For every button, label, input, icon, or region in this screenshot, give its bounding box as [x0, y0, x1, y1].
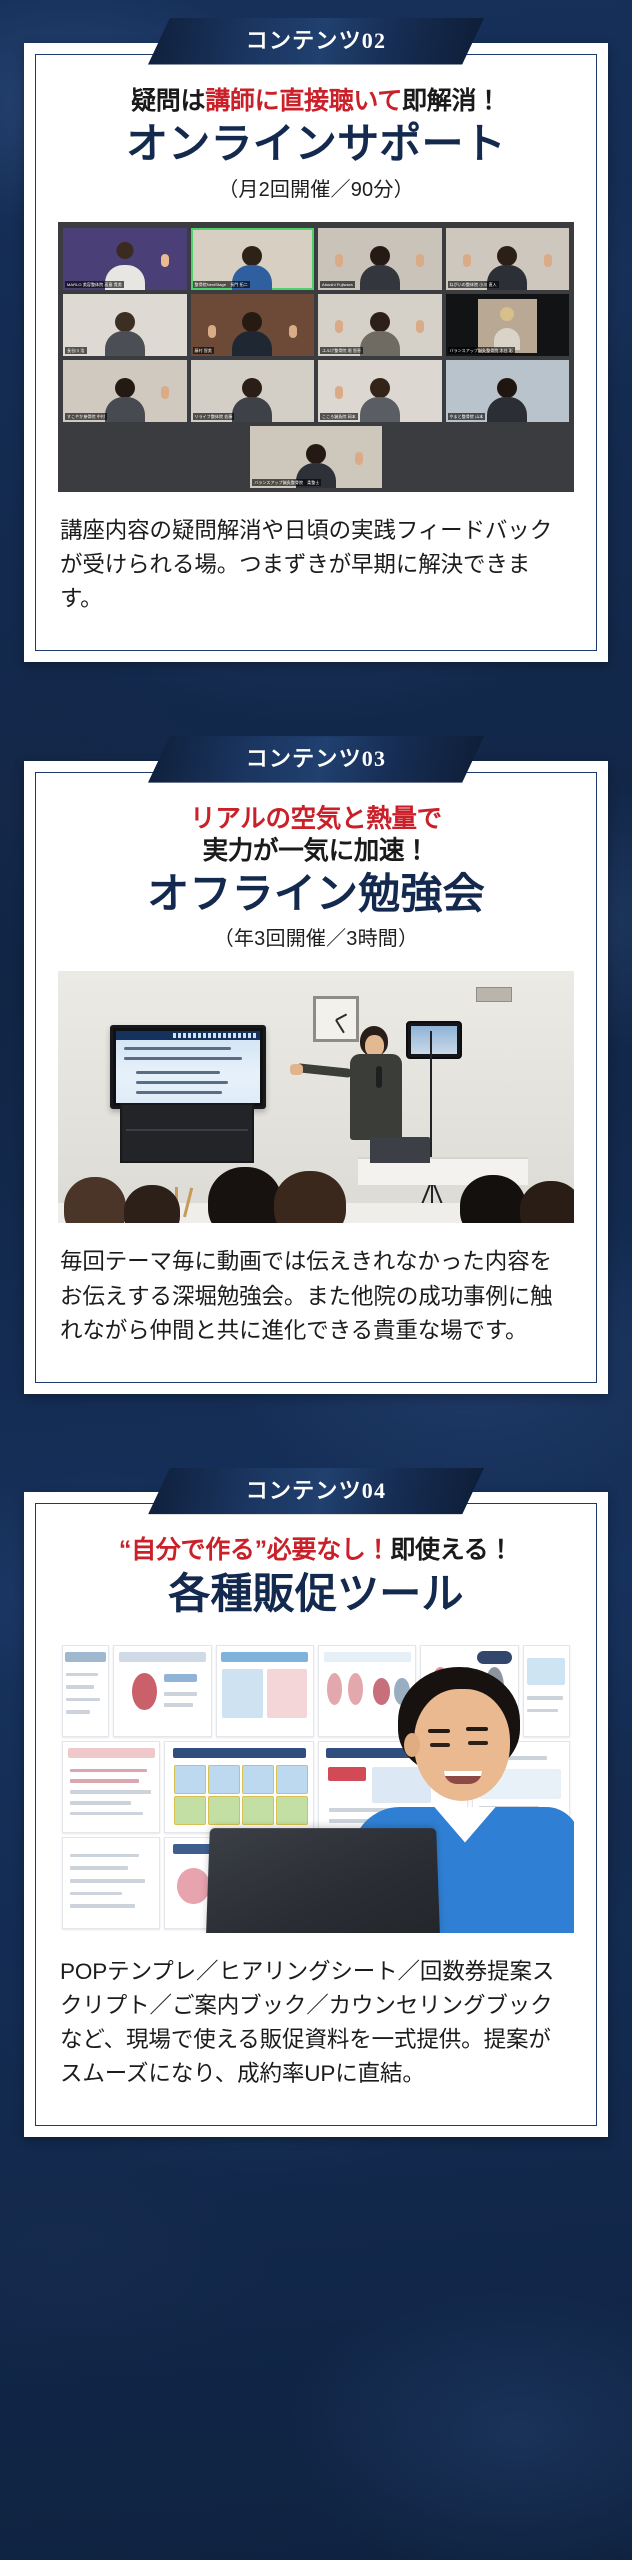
- participant-name: Atsushi Fujiwara: [320, 281, 355, 288]
- kicker-part-highlight: “自分で作る”必要なし！: [119, 1536, 390, 1564]
- promo-sheet: [62, 1645, 109, 1737]
- participant-name: すこやか接骨院 中村: [65, 413, 107, 420]
- zoom-grid-row: 長谷川 浩 藤村 智美: [63, 294, 569, 356]
- participant-name: MARLO 美容整体院 高島 貴美: [65, 281, 124, 288]
- audience-row: [58, 1127, 574, 1223]
- description-03: 毎回テーマ毎に動画では伝えきれなかった内容をお伝えする深堀勉強会。また他院の成功…: [60, 1245, 572, 1348]
- kicker-part-plain-1: 即使える！: [390, 1536, 513, 1564]
- content-card-03: リアルの空気と熱量で実力が一気に加速！ オフライン勉強会 （年3回開催／3時間）: [24, 761, 608, 1394]
- content-card-02: 疑問は講師に直接聴いて即解消！ オンラインサポート （月2回開催／90分）: [24, 43, 608, 663]
- slide-heading-bar: [116, 1031, 260, 1040]
- content-ribbon-03: コンテンツ03: [148, 736, 484, 783]
- content-section-03: コンテンツ03 リアルの空気と熱量で実力が一気に加速！ オフライン勉強会 （年3…: [0, 736, 632, 1394]
- camera-phone: [406, 1021, 462, 1059]
- participant-name: 整骨院NextStage 長門 拓二: [193, 281, 250, 288]
- zoom-meeting-grid: MARLO 美容整体院 高島 貴美 整骨院NextStage 長門 拓二: [58, 222, 574, 492]
- subnote-03: （年3回開催／3時間）: [58, 922, 574, 951]
- participant-name: バランスアップ鍼灸整骨院 柔整士: [252, 479, 321, 486]
- description-04: POPテンプレ／ヒアリングシート／回数券提案スクリプト／ご案内ブック／カウンセリ…: [60, 1955, 572, 2092]
- kicker-part-highlight: リアルの空気と熱量で: [190, 805, 442, 833]
- participant-name: リライフ整体院 佐藤: [193, 413, 235, 420]
- kicker-02: 疑問は講師に直接聴いて即解消！: [58, 85, 574, 118]
- participant-name: こころ鍼灸院 岡本: [320, 413, 358, 420]
- content-sections-page: コンテンツ02 疑問は講師に直接聴いて即解消！ オンラインサポート （月2回開催…: [0, 0, 632, 2137]
- promo-sheet: [216, 1645, 314, 1737]
- zoom-participant-tile: こころ鍼灸院 岡本: [318, 360, 442, 422]
- zoom-participant-tile: Atsushi Fujiwara: [318, 228, 442, 290]
- participant-name: 長谷川 浩: [65, 347, 87, 354]
- participant-name: ねがいの整体院 小川 直人: [448, 281, 499, 288]
- promo-sheet: [62, 1741, 160, 1833]
- zoom-grid-row: すこやか接骨院 中村 リライフ整体院 佐藤: [63, 360, 569, 422]
- kicker-part-plain-1: 実力が一気に加速！: [203, 837, 430, 865]
- participant-name: 藤村 智美: [193, 347, 215, 354]
- headline-02: オンラインサポート: [58, 121, 574, 171]
- zoom-participant-tile: ねがいの整体院 小川 直人: [446, 228, 570, 290]
- content-card-inner-03: リアルの空気と熱量で実力が一気に加速！ オフライン勉強会 （年3回開催／3時間）: [35, 772, 597, 1383]
- participant-avatar: [478, 299, 537, 354]
- zoom-participant-tile: 整骨院NextStage 長門 拓二: [191, 228, 315, 290]
- participant-name: ユルけ整骨院 堀 智恵: [320, 347, 363, 354]
- seminar-photo: [58, 971, 574, 1223]
- subnote-02: （月2回開催／90分）: [58, 173, 574, 202]
- kicker-part-plain-2: 即解消！: [402, 87, 501, 115]
- content-card-04: “自分で作る”必要なし！即使える！ 各種販促ツール: [24, 1492, 608, 2137]
- content-card-inner-02: 疑問は講師に直接聴いて即解消！ オンラインサポート （月2回開催／90分）: [35, 54, 597, 652]
- promo-tools-photo: [58, 1641, 574, 1933]
- content-ribbon-04: コンテンツ04: [148, 1468, 484, 1515]
- zoom-participant-tile: バランスアップ鍼灸整骨院 柔整士: [250, 426, 382, 488]
- zoom-participant-tile: リライフ整体院 佐藤: [191, 360, 315, 422]
- monitor-screen: [116, 1031, 260, 1103]
- description-02: 講座内容の疑問解消や日頃の実践フィードバックが受けられる場。つまずきが早期に解決…: [60, 514, 572, 617]
- wall-vent: [476, 987, 512, 1002]
- ribbon-wrap-04: コンテンツ04: [24, 1468, 608, 1515]
- ribbon-wrap-03: コンテンツ03: [24, 736, 608, 783]
- promo-sheet: [62, 1837, 160, 1929]
- laptop-device: [206, 1828, 440, 1933]
- zoom-participant-tile: バランスアップ鍼灸整骨院 木谷 彩: [446, 294, 570, 356]
- promo-sheet: [164, 1741, 314, 1833]
- zoom-participant-tile: 長谷川 浩: [63, 294, 187, 356]
- content-card-inner-04: “自分で作る”必要なし！即使える！ 各種販促ツール: [35, 1503, 597, 2126]
- participant-name: バランスアップ鍼灸整骨院 木谷 彩: [448, 347, 516, 354]
- participant-name: やまと整骨院 山本: [448, 413, 486, 420]
- presentation-monitor: [110, 1025, 266, 1109]
- kicker-part-highlight: 講師に直接聴いて: [205, 87, 402, 115]
- media-seminar-photo: [58, 971, 574, 1223]
- kicker-03: リアルの空気と熱量で実力が一気に加速！: [58, 803, 574, 867]
- headline-03: オフライン勉強会: [58, 871, 574, 921]
- content-ribbon-02: コンテンツ02: [148, 18, 484, 65]
- zoom-participant-tile: やまと整骨院 山本: [446, 360, 570, 422]
- zoom-grid-row-center: バランスアップ鍼灸整骨院 柔整士: [63, 426, 569, 488]
- zoom-participant-tile: すこやか接骨院 中村: [63, 360, 187, 422]
- media-zoom-grid: MARLO 美容整体院 高島 貴美 整骨院NextStage 長門 拓二: [58, 222, 574, 492]
- headline-04: 各種販促ツール: [58, 1571, 574, 1621]
- zoom-participant-tile: MARLO 美容整体院 高島 貴美: [63, 228, 187, 290]
- promo-sheet: [113, 1645, 211, 1737]
- content-section-02: コンテンツ02 疑問は講師に直接聴いて即解消！ オンラインサポート （月2回開催…: [0, 18, 632, 662]
- kicker-04: “自分で作る”必要なし！即使える！: [58, 1534, 574, 1567]
- zoom-participant-tile: ユルけ整骨院 堀 智恵: [318, 294, 442, 356]
- kicker-part-plain-1: 疑問は: [131, 87, 205, 115]
- content-section-04: コンテンツ04 “自分で作る”必要なし！即使える！ 各種販促ツール: [0, 1468, 632, 2137]
- zoom-participant-tile: 藤村 智美: [191, 294, 315, 356]
- zoom-grid-row: MARLO 美容整体院 高島 貴美 整骨院NextStage 長門 拓二: [63, 228, 569, 290]
- media-promo-tools: [58, 1641, 574, 1933]
- top-spacer: [0, 0, 632, 18]
- ribbon-wrap-02: コンテンツ02: [24, 18, 608, 65]
